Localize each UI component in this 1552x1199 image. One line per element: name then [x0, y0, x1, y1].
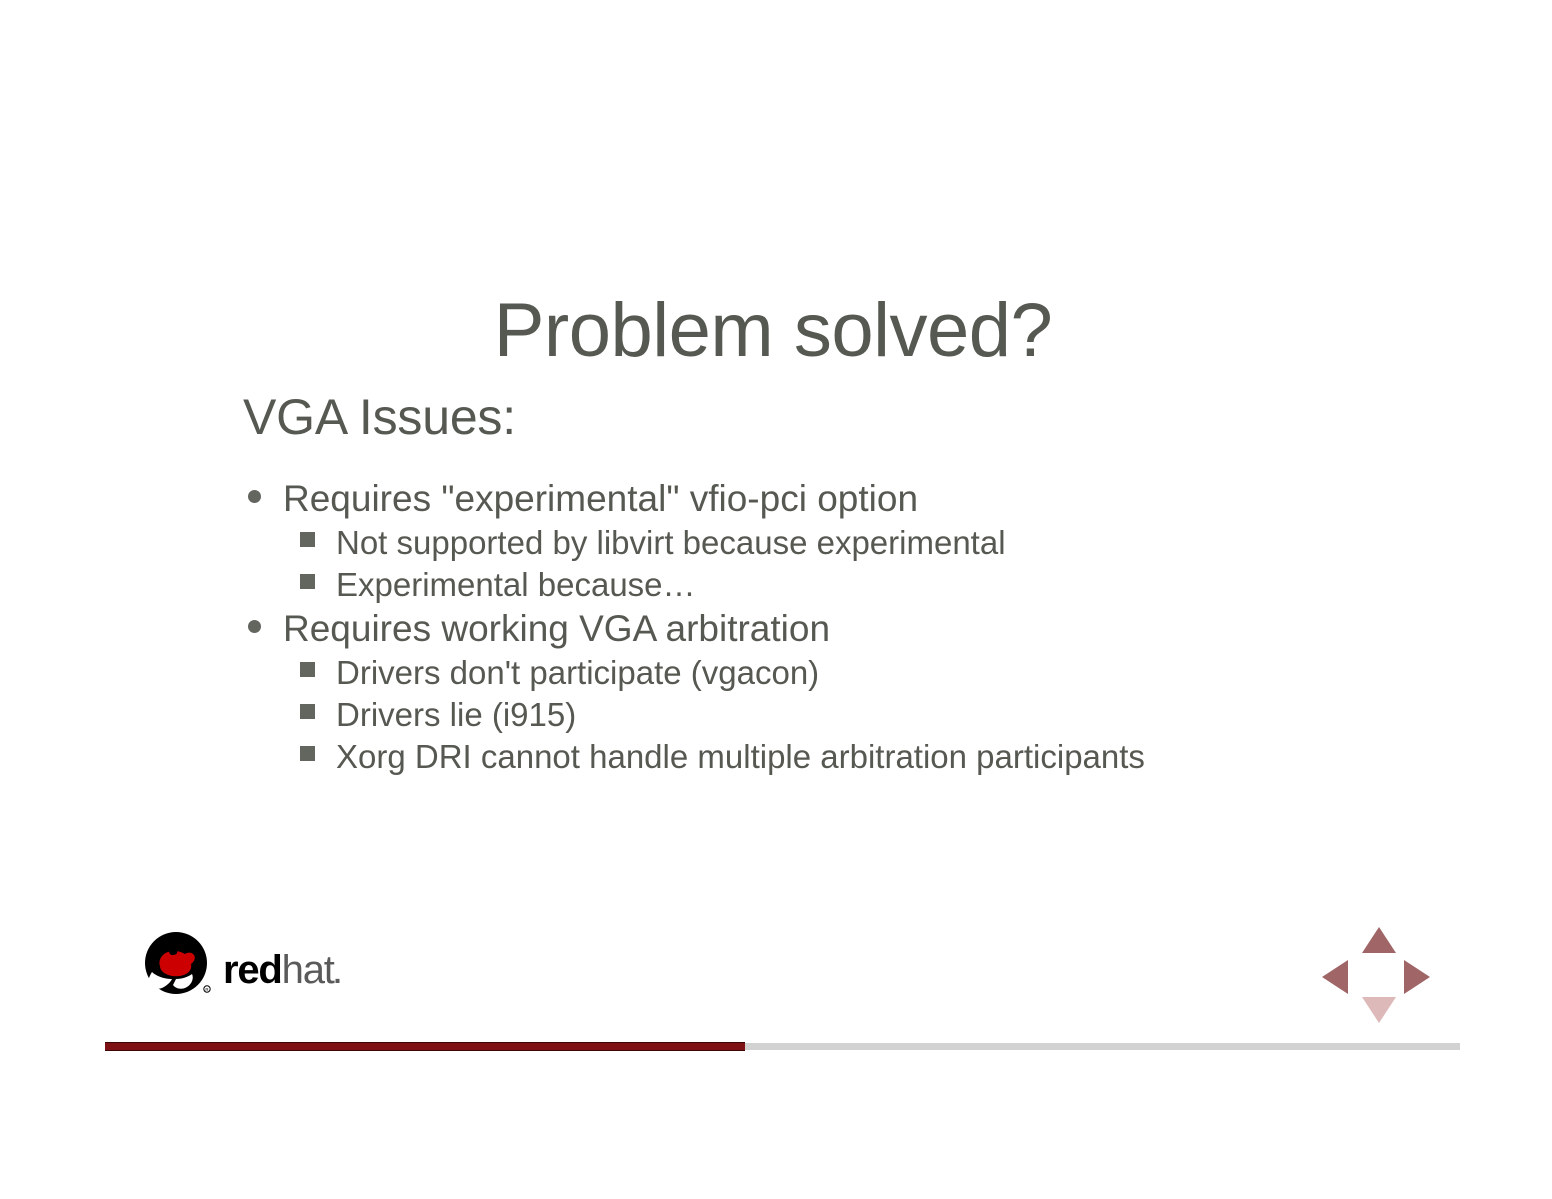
list-item-label: Requires working VGA arbitration [283, 610, 1448, 647]
list-item-label: Requires "experimental" vfio-pci option [283, 480, 1448, 517]
redhat-logo: R redhat. [140, 932, 340, 998]
slide: Problem solved? VGA Issues: Requires "ex… [0, 0, 1552, 1199]
list-item: Experimental because… [300, 564, 1448, 606]
list-item: Drivers don't participate (vgacon) [300, 652, 1448, 694]
footer-divider-gray-segment [745, 1043, 1460, 1050]
footer-divider [105, 1042, 1460, 1051]
bullet-dot-icon [248, 490, 261, 503]
redhat-shadowman-icon: R [140, 932, 214, 998]
bullet-square-icon [300, 746, 315, 761]
bullet-square-icon [300, 532, 315, 547]
page-title: Problem solved? [0, 293, 1552, 369]
svg-text:R: R [205, 987, 208, 992]
nav-arrow-right-icon[interactable] [1404, 960, 1430, 994]
nav-arrow-left-icon[interactable] [1322, 960, 1348, 994]
list-item: Requires working VGA arbitration [248, 606, 1448, 652]
list-item-label: Xorg DRI cannot handle multiple arbitrat… [336, 740, 1448, 773]
bullet-list: Requires "experimental" vfio-pci option … [248, 476, 1448, 778]
bullet-square-icon [300, 662, 315, 677]
redhat-wordmark-hat: hat [282, 948, 334, 992]
list-item: Requires "experimental" vfio-pci option [248, 476, 1448, 522]
list-item: Drivers lie (i915) [300, 694, 1448, 736]
bullet-dot-icon [248, 620, 261, 633]
bullet-square-icon [300, 704, 315, 719]
redhat-wordmark-red: red [223, 948, 282, 992]
redhat-wordmark-dot: . [334, 958, 341, 989]
list-item: Xorg DRI cannot handle multiple arbitrat… [300, 736, 1448, 778]
footer-divider-red-segment [105, 1042, 745, 1051]
page-title-text: Problem solved? [494, 293, 1053, 369]
bullet-square-icon [300, 574, 315, 589]
list-item-label: Experimental because… [336, 568, 1448, 601]
nav-arrow-down-icon[interactable] [1362, 997, 1396, 1023]
list-item-label: Not supported by libvirt because experim… [336, 526, 1448, 559]
section-subtitle: VGA Issues: [243, 392, 516, 442]
list-item: Not supported by libvirt because experim… [300, 522, 1448, 564]
slide-navigation[interactable] [1322, 927, 1430, 1023]
list-item-label: Drivers don't participate (vgacon) [336, 656, 1448, 689]
nav-arrow-up-icon[interactable] [1362, 927, 1396, 953]
list-item-label: Drivers lie (i915) [336, 698, 1448, 731]
redhat-wordmark: redhat. [223, 950, 340, 990]
